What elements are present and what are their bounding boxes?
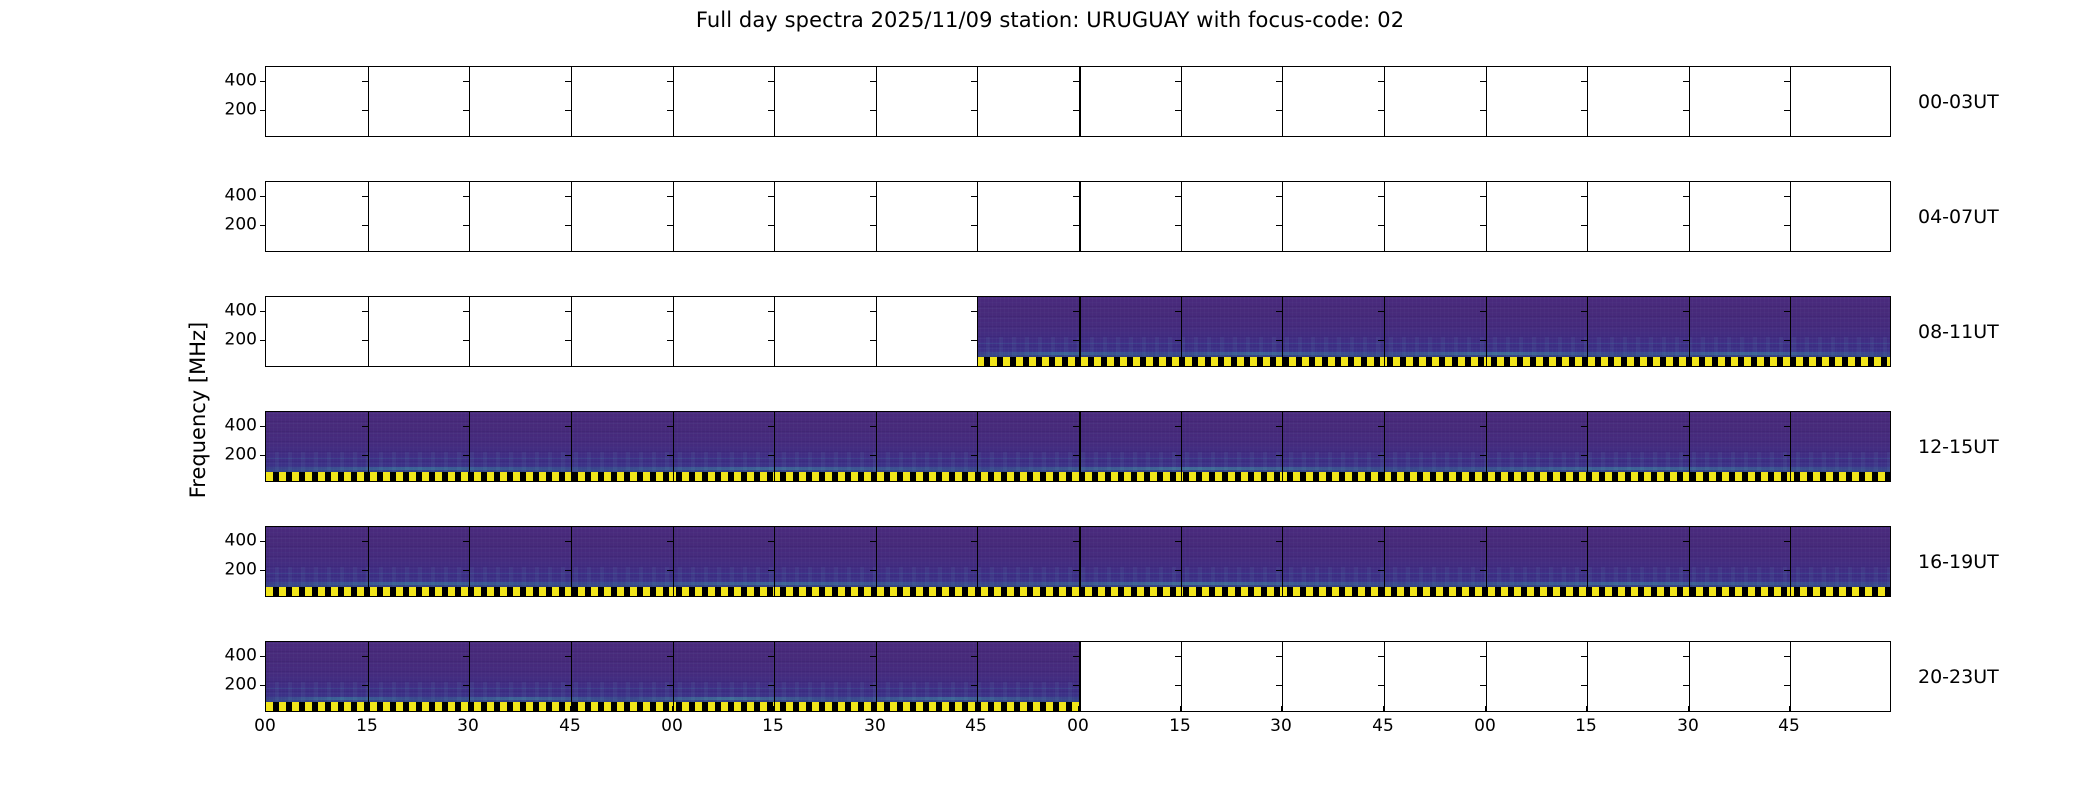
subpanel-separator bbox=[1384, 182, 1385, 251]
x-tick-label: 00 bbox=[661, 716, 683, 736]
x-tick bbox=[367, 706, 368, 712]
inner-y-tick bbox=[1683, 110, 1689, 111]
inner-y-tick bbox=[1784, 685, 1790, 686]
inner-y-tick bbox=[870, 685, 876, 686]
inner-y-tick bbox=[870, 81, 876, 82]
inner-y-tick bbox=[1175, 225, 1181, 226]
inner-y-tick bbox=[362, 311, 368, 312]
inner-y-tick bbox=[1276, 656, 1282, 657]
inner-y-tick bbox=[870, 225, 876, 226]
subpanel-separator bbox=[1587, 642, 1588, 711]
subpanel-separator bbox=[469, 642, 470, 711]
spectrogram-data-patch bbox=[266, 412, 1890, 481]
subpanel-separator bbox=[1282, 182, 1283, 251]
inner-y-tick bbox=[971, 225, 977, 226]
inner-y-tick bbox=[1784, 225, 1790, 226]
subpanel-separator bbox=[673, 642, 674, 711]
inner-y-tick bbox=[870, 541, 876, 542]
inner-y-tick bbox=[667, 455, 673, 456]
subpanel-separator bbox=[1079, 182, 1081, 251]
y-tick-label: 400 bbox=[225, 418, 257, 435]
row-time-label: 16-19UT bbox=[1918, 551, 1999, 573]
subpanel-separator bbox=[977, 642, 978, 711]
inner-y-tick bbox=[362, 541, 368, 542]
y-tick-label: 200 bbox=[225, 332, 257, 349]
inner-y-tick bbox=[1378, 541, 1384, 542]
y-axis-label: Frequency [MHz] bbox=[186, 300, 210, 520]
subpanel-separator bbox=[1181, 182, 1182, 251]
inner-y-tick bbox=[971, 196, 977, 197]
inner-y-tick bbox=[1480, 225, 1486, 226]
y-tick-label: 400 bbox=[225, 648, 257, 665]
inner-y-tick bbox=[768, 541, 774, 542]
subpanel-separator bbox=[1181, 412, 1182, 481]
inner-y-tick bbox=[768, 81, 774, 82]
inner-y-tick bbox=[1581, 541, 1587, 542]
inner-y-tick bbox=[1175, 426, 1181, 427]
inner-y-tick bbox=[565, 685, 571, 686]
spectrogram-row-plot-area bbox=[266, 527, 1890, 596]
inner-y-tick bbox=[1480, 541, 1486, 542]
inner-y-tick bbox=[768, 340, 774, 341]
subpanel-separator bbox=[1486, 412, 1487, 481]
inner-y-tick bbox=[667, 426, 673, 427]
subpanel-separator bbox=[1790, 67, 1791, 136]
inner-y-tick bbox=[1784, 656, 1790, 657]
x-tick-label: 15 bbox=[1575, 716, 1597, 736]
inner-y-tick bbox=[1276, 570, 1282, 571]
inner-y-tick bbox=[1683, 426, 1689, 427]
subpanel-separator bbox=[774, 642, 775, 711]
subpanel-separator bbox=[1079, 67, 1081, 136]
inner-y-tick bbox=[971, 685, 977, 686]
inner-y-tick bbox=[463, 225, 469, 226]
inner-y-tick bbox=[667, 311, 673, 312]
inner-y-tick bbox=[1784, 311, 1790, 312]
subpanel-separator bbox=[1181, 527, 1182, 596]
spectrogram-row: 40020008-11UT bbox=[265, 296, 1891, 367]
subpanel-separator bbox=[1790, 182, 1791, 251]
y-tick-label: 200 bbox=[225, 217, 257, 234]
inner-y-tick bbox=[1784, 426, 1790, 427]
subpanel-separator bbox=[876, 527, 877, 596]
inner-y-tick bbox=[1480, 656, 1486, 657]
inner-y-tick bbox=[1276, 340, 1282, 341]
bright-emission-line bbox=[266, 467, 1890, 470]
y-tick bbox=[260, 656, 266, 657]
inner-y-tick bbox=[1073, 110, 1079, 111]
inner-y-tick bbox=[768, 426, 774, 427]
subpanel-separator bbox=[1790, 412, 1791, 481]
subpanel-separator bbox=[1384, 527, 1385, 596]
x-tick-label: 45 bbox=[1778, 716, 1800, 736]
inner-y-tick bbox=[565, 426, 571, 427]
inner-y-tick bbox=[1073, 541, 1079, 542]
subpanel-separator bbox=[469, 182, 470, 251]
inner-y-tick bbox=[362, 656, 368, 657]
subpanel-separator bbox=[673, 527, 674, 596]
x-tick bbox=[672, 706, 673, 712]
spectrogram-row: 40020020-23UT bbox=[265, 641, 1891, 712]
inner-y-tick bbox=[463, 110, 469, 111]
inner-y-tick bbox=[1073, 340, 1079, 341]
inner-y-tick bbox=[667, 570, 673, 571]
inner-y-tick bbox=[971, 455, 977, 456]
inner-y-tick bbox=[463, 685, 469, 686]
inner-y-tick bbox=[1276, 225, 1282, 226]
bright-emission-line bbox=[977, 352, 1890, 355]
x-tick bbox=[1586, 706, 1587, 712]
inner-y-tick bbox=[870, 311, 876, 312]
inner-y-tick bbox=[1175, 541, 1181, 542]
inner-y-tick bbox=[768, 110, 774, 111]
inner-y-tick bbox=[1581, 110, 1587, 111]
inner-y-tick bbox=[1480, 81, 1486, 82]
inner-y-tick bbox=[1378, 225, 1384, 226]
inner-y-tick bbox=[1581, 455, 1587, 456]
inner-y-tick bbox=[1480, 455, 1486, 456]
spectrogram-row-plot-area bbox=[266, 182, 1890, 251]
subpanel-separator bbox=[1486, 297, 1487, 366]
x-tick-label: 15 bbox=[356, 716, 378, 736]
inner-y-tick bbox=[1378, 196, 1384, 197]
inner-y-tick bbox=[1784, 110, 1790, 111]
inner-y-tick bbox=[1073, 685, 1079, 686]
inner-y-tick bbox=[463, 656, 469, 657]
inner-y-tick bbox=[870, 426, 876, 427]
subpanel-separator bbox=[1790, 297, 1791, 366]
inner-y-tick bbox=[1784, 81, 1790, 82]
x-tick bbox=[1281, 706, 1282, 712]
subpanel-separator bbox=[1079, 527, 1081, 596]
y-tick bbox=[260, 81, 266, 82]
subpanel-separator bbox=[774, 527, 775, 596]
inner-y-tick bbox=[1073, 426, 1079, 427]
subpanel-separator bbox=[1689, 297, 1690, 366]
subpanel-separator bbox=[1384, 412, 1385, 481]
inner-y-tick bbox=[1581, 196, 1587, 197]
inner-y-tick bbox=[1175, 656, 1181, 657]
inner-y-tick bbox=[1378, 110, 1384, 111]
inner-y-tick bbox=[1480, 340, 1486, 341]
subpanel-separator bbox=[774, 67, 775, 136]
subpanel-separator bbox=[368, 527, 369, 596]
inner-y-tick bbox=[667, 685, 673, 686]
inner-y-tick bbox=[667, 340, 673, 341]
inner-y-tick bbox=[870, 196, 876, 197]
inner-y-tick bbox=[463, 570, 469, 571]
inner-y-tick bbox=[1276, 455, 1282, 456]
frequency-marker-band bbox=[266, 587, 1890, 596]
subpanel-separator bbox=[1587, 67, 1588, 136]
inner-y-tick bbox=[463, 81, 469, 82]
x-tick-label: 15 bbox=[1169, 716, 1191, 736]
inner-y-tick bbox=[463, 196, 469, 197]
spectrogram-row-plot-area bbox=[266, 412, 1890, 481]
inner-y-tick bbox=[1073, 455, 1079, 456]
subpanel-separator bbox=[1689, 412, 1690, 481]
inner-y-tick bbox=[565, 570, 571, 571]
spectrogram-data-patch bbox=[977, 297, 1890, 366]
y-tick-label: 400 bbox=[225, 303, 257, 320]
x-tick-label: 30 bbox=[1677, 716, 1699, 736]
inner-y-tick bbox=[1175, 570, 1181, 571]
subpanel-separator bbox=[876, 297, 877, 366]
subpanel-separator bbox=[977, 297, 978, 366]
subpanel-separator bbox=[571, 412, 572, 481]
inner-y-tick bbox=[1683, 541, 1689, 542]
inner-y-tick bbox=[1784, 340, 1790, 341]
x-tick-label: 00 bbox=[1474, 716, 1496, 736]
inner-y-tick bbox=[1276, 196, 1282, 197]
x-tick-label: 30 bbox=[864, 716, 886, 736]
y-tick bbox=[260, 110, 266, 111]
subpanel-separator bbox=[571, 527, 572, 596]
subpanel-separator bbox=[673, 412, 674, 481]
inner-y-tick bbox=[768, 685, 774, 686]
x-tick bbox=[1180, 706, 1181, 712]
subpanel-separator bbox=[1790, 527, 1791, 596]
inner-y-tick bbox=[362, 570, 368, 571]
inner-y-tick bbox=[565, 110, 571, 111]
subpanel-separator bbox=[876, 642, 877, 711]
inner-y-tick bbox=[1276, 426, 1282, 427]
inner-y-tick bbox=[971, 570, 977, 571]
subpanel-separator bbox=[977, 182, 978, 251]
inner-y-tick bbox=[463, 541, 469, 542]
subpanel-separator bbox=[1587, 297, 1588, 366]
inner-y-tick bbox=[1378, 570, 1384, 571]
inner-y-tick bbox=[1378, 426, 1384, 427]
subpanel-separator bbox=[1079, 297, 1081, 366]
inner-y-tick bbox=[362, 685, 368, 686]
spectrogram-row: 40020012-15UT bbox=[265, 411, 1891, 482]
inner-y-tick bbox=[1073, 311, 1079, 312]
inner-y-tick bbox=[1175, 110, 1181, 111]
inner-y-tick bbox=[1175, 340, 1181, 341]
x-tick-label: 15 bbox=[762, 716, 784, 736]
x-tick bbox=[468, 706, 469, 712]
subpanel-separator bbox=[368, 297, 369, 366]
x-tick bbox=[570, 706, 571, 712]
inner-y-tick bbox=[463, 426, 469, 427]
subpanel-separator bbox=[977, 527, 978, 596]
subpanel-separator bbox=[876, 182, 877, 251]
x-tick bbox=[1383, 706, 1384, 712]
inner-y-tick bbox=[1276, 685, 1282, 686]
inner-y-tick bbox=[1683, 196, 1689, 197]
subpanel-separator bbox=[1181, 297, 1182, 366]
inner-y-tick bbox=[1175, 455, 1181, 456]
spectrogram-data-patch bbox=[266, 527, 1890, 596]
inner-y-tick bbox=[1276, 81, 1282, 82]
inner-y-tick bbox=[1683, 340, 1689, 341]
x-tick-label: 45 bbox=[1372, 716, 1394, 736]
row-time-label: 00-03UT bbox=[1918, 91, 1999, 113]
subpanel-separator bbox=[1384, 67, 1385, 136]
subpanel-separator bbox=[977, 412, 978, 481]
inner-y-tick bbox=[1480, 426, 1486, 427]
inner-y-tick bbox=[362, 110, 368, 111]
subpanel-separator bbox=[673, 67, 674, 136]
inner-y-tick bbox=[971, 541, 977, 542]
inner-y-tick bbox=[1378, 81, 1384, 82]
subpanel-separator bbox=[469, 67, 470, 136]
row-time-label: 12-15UT bbox=[1918, 436, 1999, 458]
subpanel-separator bbox=[774, 182, 775, 251]
inner-y-tick bbox=[768, 225, 774, 226]
inner-y-tick bbox=[1784, 455, 1790, 456]
inner-y-tick bbox=[1073, 570, 1079, 571]
x-tick bbox=[773, 706, 774, 712]
y-tick-label: 200 bbox=[225, 102, 257, 119]
inner-y-tick bbox=[362, 196, 368, 197]
inner-y-tick bbox=[971, 81, 977, 82]
inner-y-tick bbox=[1683, 455, 1689, 456]
inner-y-tick bbox=[971, 426, 977, 427]
y-tick bbox=[260, 541, 266, 542]
x-tick bbox=[976, 706, 977, 712]
x-tick bbox=[1078, 706, 1079, 712]
y-tick bbox=[260, 196, 266, 197]
y-tick-label: 200 bbox=[225, 677, 257, 694]
subpanel-separator bbox=[774, 297, 775, 366]
y-tick bbox=[260, 455, 266, 456]
inner-y-tick bbox=[971, 311, 977, 312]
inner-y-tick bbox=[1784, 541, 1790, 542]
subpanel-separator bbox=[1689, 182, 1690, 251]
inner-y-tick bbox=[1581, 340, 1587, 341]
subpanel-separator bbox=[1384, 642, 1385, 711]
y-tick-label: 400 bbox=[225, 73, 257, 90]
page-title: Full day spectra 2025/11/09 station: URU… bbox=[0, 8, 2100, 32]
inner-y-tick bbox=[1378, 455, 1384, 456]
inner-y-tick bbox=[362, 426, 368, 427]
x-tick-label: 30 bbox=[1270, 716, 1292, 736]
subpanel-separator bbox=[571, 67, 572, 136]
inner-y-tick bbox=[1175, 196, 1181, 197]
subpanel-separator bbox=[1486, 67, 1487, 136]
subpanel-separator bbox=[1079, 412, 1081, 481]
subpanel-separator bbox=[977, 67, 978, 136]
subpanel-separator bbox=[673, 297, 674, 366]
subpanel-separator bbox=[1689, 67, 1690, 136]
row-time-label: 04-07UT bbox=[1918, 206, 1999, 228]
subpanel-separator bbox=[1079, 642, 1081, 711]
inner-y-tick bbox=[1683, 81, 1689, 82]
subpanel-separator bbox=[1689, 642, 1690, 711]
inner-y-tick bbox=[565, 455, 571, 456]
subpanel-separator bbox=[876, 412, 877, 481]
x-tick-label: 30 bbox=[457, 716, 479, 736]
inner-y-tick bbox=[565, 225, 571, 226]
subpanel-separator bbox=[1790, 642, 1791, 711]
y-tick-label: 200 bbox=[225, 562, 257, 579]
inner-y-tick bbox=[1073, 81, 1079, 82]
y-tick bbox=[260, 340, 266, 341]
inner-y-tick bbox=[667, 225, 673, 226]
inner-y-tick bbox=[1175, 81, 1181, 82]
inner-y-tick bbox=[1378, 685, 1384, 686]
subpanel-separator bbox=[571, 297, 572, 366]
x-tick bbox=[1688, 706, 1689, 712]
y-tick bbox=[260, 311, 266, 312]
inner-y-tick bbox=[1581, 225, 1587, 226]
inner-y-tick bbox=[667, 81, 673, 82]
inner-y-tick bbox=[565, 196, 571, 197]
subpanel-separator bbox=[673, 182, 674, 251]
inner-y-tick bbox=[1480, 196, 1486, 197]
inner-y-tick bbox=[1480, 311, 1486, 312]
inner-y-tick bbox=[971, 656, 977, 657]
subpanel-separator bbox=[1181, 642, 1182, 711]
inner-y-tick bbox=[463, 311, 469, 312]
inner-y-tick bbox=[463, 455, 469, 456]
inner-y-tick bbox=[1276, 110, 1282, 111]
spectrogram-row: 40020004-07UT bbox=[265, 181, 1891, 252]
subpanel-separator bbox=[571, 182, 572, 251]
subpanel-separator bbox=[368, 642, 369, 711]
inner-y-tick bbox=[870, 110, 876, 111]
x-tick bbox=[1789, 706, 1790, 712]
inner-y-tick bbox=[463, 340, 469, 341]
inner-y-tick bbox=[1276, 311, 1282, 312]
y-tick bbox=[260, 225, 266, 226]
spectrogram-row: 40020000-03UT bbox=[265, 66, 1891, 137]
subpanel-separator bbox=[368, 67, 369, 136]
inner-y-tick bbox=[768, 311, 774, 312]
inner-y-tick bbox=[1378, 340, 1384, 341]
subpanel-separator bbox=[1181, 67, 1182, 136]
bright-emission-line bbox=[266, 582, 1890, 585]
subpanel-separator bbox=[1282, 412, 1283, 481]
spectrogram-row-plot-area bbox=[266, 297, 1890, 366]
subpanel-separator bbox=[1587, 182, 1588, 251]
inner-y-tick bbox=[1683, 685, 1689, 686]
inner-y-tick bbox=[362, 225, 368, 226]
spectrogram-row-plot-area bbox=[266, 67, 1890, 136]
inner-y-tick bbox=[768, 196, 774, 197]
inner-y-tick bbox=[1480, 110, 1486, 111]
inner-y-tick bbox=[565, 541, 571, 542]
y-tick-label: 400 bbox=[225, 533, 257, 550]
inner-y-tick bbox=[1683, 225, 1689, 226]
subpanel-separator bbox=[1689, 527, 1690, 596]
y-tick-label: 400 bbox=[225, 188, 257, 205]
inner-y-tick bbox=[1581, 311, 1587, 312]
inner-y-tick bbox=[1784, 196, 1790, 197]
inner-y-tick bbox=[1175, 685, 1181, 686]
inner-y-tick bbox=[1683, 570, 1689, 571]
inner-y-tick bbox=[1581, 685, 1587, 686]
y-tick bbox=[260, 426, 266, 427]
inner-y-tick bbox=[1581, 426, 1587, 427]
inner-y-tick bbox=[1581, 81, 1587, 82]
subpanel-separator bbox=[1486, 182, 1487, 251]
inner-y-tick bbox=[870, 656, 876, 657]
x-axis: 00153045001530450015304500153045 bbox=[265, 712, 1891, 752]
x-tick bbox=[265, 706, 266, 712]
inner-y-tick bbox=[667, 196, 673, 197]
subpanel-separator bbox=[1486, 642, 1487, 711]
inner-y-tick bbox=[1480, 570, 1486, 571]
inner-y-tick bbox=[667, 656, 673, 657]
x-tick bbox=[875, 706, 876, 712]
inner-y-tick bbox=[971, 110, 977, 111]
inner-y-tick bbox=[1073, 196, 1079, 197]
subpanel-separator bbox=[1384, 297, 1385, 366]
inner-y-tick bbox=[768, 570, 774, 571]
